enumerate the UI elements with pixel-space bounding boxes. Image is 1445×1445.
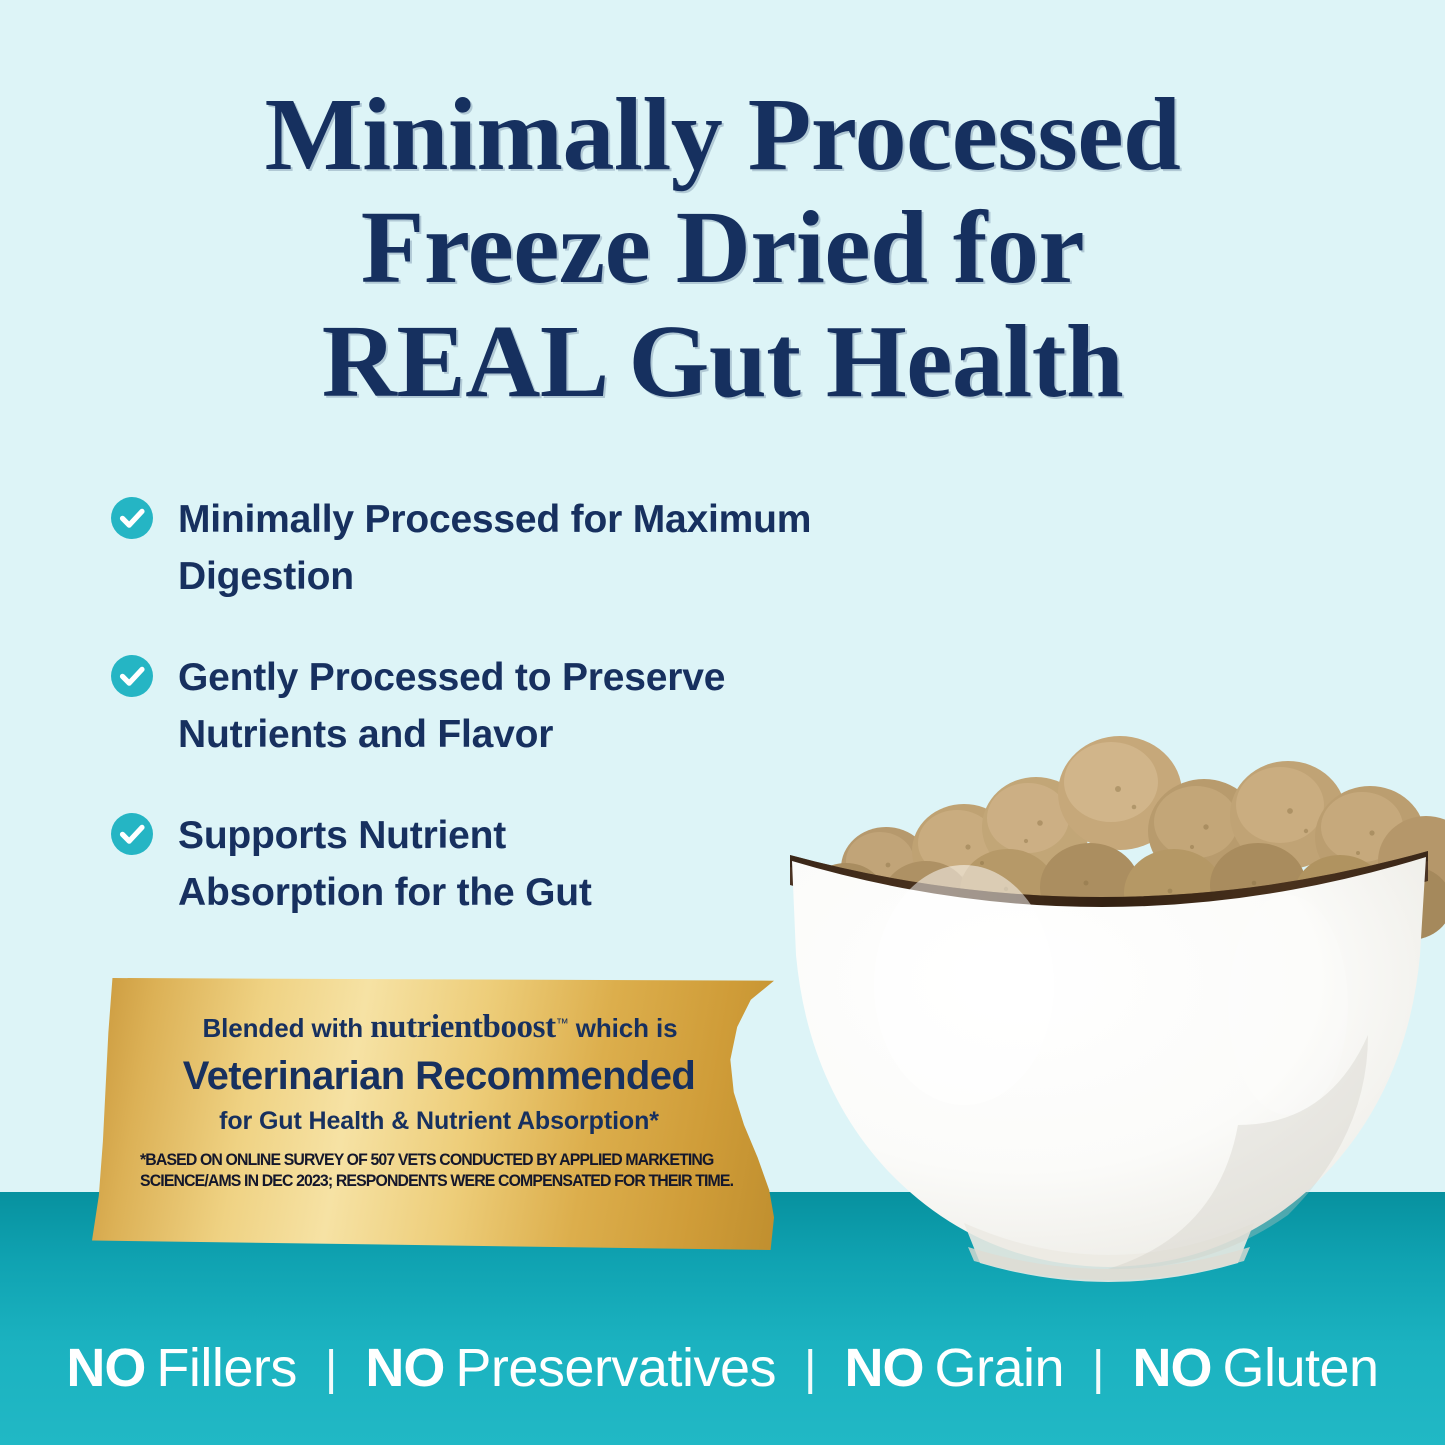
no-claims-bar: NO Fillers | NO Preservatives | NO Grain… bbox=[0, 1318, 1445, 1418]
bowl-of-freeze-dried-food bbox=[768, 655, 1445, 1315]
badge-line-3: for Gut Health & Nutrient Absorption* bbox=[92, 1106, 774, 1136]
product-infographic: Minimally Processed Freeze Dried for REA… bbox=[0, 0, 1445, 1445]
headline-line-1: Minimally Processed bbox=[0, 78, 1445, 191]
headline-line-3: REAL Gut Health bbox=[0, 305, 1445, 418]
claim-divider: | bbox=[1092, 1341, 1104, 1396]
claim-fillers: NO Fillers bbox=[66, 1337, 297, 1399]
claim-word: Grain bbox=[934, 1337, 1064, 1399]
list-item-label: Supports Nutrient Absorption for the Gut bbox=[178, 808, 592, 922]
page-title: Minimally Processed Freeze Dried for REA… bbox=[0, 78, 1445, 418]
claim-word: Preservatives bbox=[455, 1337, 776, 1399]
claim-divider: | bbox=[325, 1341, 337, 1396]
claim-divider: | bbox=[804, 1341, 816, 1396]
badge-prefix: Blended with bbox=[202, 1013, 363, 1043]
veterinarian-recommended-badge: Blended with nutrientboost™ which is Vet… bbox=[92, 978, 774, 1250]
claim-prefix: NO bbox=[844, 1337, 923, 1399]
bullet-2-line-2: Nutrients and Flavor bbox=[178, 713, 553, 756]
claim-preservatives: NO Preservatives bbox=[365, 1337, 776, 1399]
badge-line-2: Veterinarian Recommended bbox=[92, 1052, 774, 1100]
list-item: Minimally Processed for Maximum Digestio… bbox=[110, 492, 900, 606]
badge-fineprint: *BASED ON ONLINE SURVEY OF 507 VETS COND… bbox=[140, 1150, 724, 1193]
list-item-label: Minimally Processed for Maximum Digestio… bbox=[178, 492, 900, 606]
bullet-2-line-1: Gently Processed to Preserve bbox=[178, 656, 725, 699]
claim-prefix: NO bbox=[1132, 1337, 1211, 1399]
claim-word: Gluten bbox=[1222, 1337, 1378, 1399]
fineprint-line-1: *BASED ON ONLINE SURVEY OF 507 VETS COND… bbox=[140, 1150, 724, 1171]
claim-prefix: NO bbox=[66, 1337, 145, 1399]
fineprint-line-2: SCIENCE/AMS IN DEC 2023; RESPONDENTS WER… bbox=[140, 1171, 724, 1192]
claim-prefix: NO bbox=[365, 1337, 444, 1399]
badge-line-1: Blended with nutrientboost™ which is bbox=[92, 1008, 774, 1048]
badge-content: Blended with nutrientboost™ which is Vet… bbox=[92, 978, 774, 1250]
headline-line-2: Freeze Dried for bbox=[0, 191, 1445, 304]
claim-grain: NO Grain bbox=[844, 1337, 1064, 1399]
check-circle-icon bbox=[110, 654, 154, 698]
list-item-label: Gently Processed to Preserve Nutrients a… bbox=[178, 650, 725, 764]
check-circle-icon bbox=[110, 496, 154, 540]
badge-suffix: which is bbox=[576, 1013, 678, 1043]
bullet-3-line-2: Absorption for the Gut bbox=[178, 871, 592, 914]
bullet-1-line-1: Minimally Processed for Maximum Digestio… bbox=[178, 498, 811, 598]
claim-word: Fillers bbox=[156, 1337, 297, 1399]
bullet-3-line-1: Supports Nutrient bbox=[178, 814, 506, 857]
nutrientboost-wordmark: nutrientboost bbox=[370, 1009, 556, 1045]
trademark-symbol: ™ bbox=[556, 1015, 569, 1030]
check-circle-icon bbox=[110, 812, 154, 856]
claim-gluten: NO Gluten bbox=[1132, 1337, 1378, 1399]
